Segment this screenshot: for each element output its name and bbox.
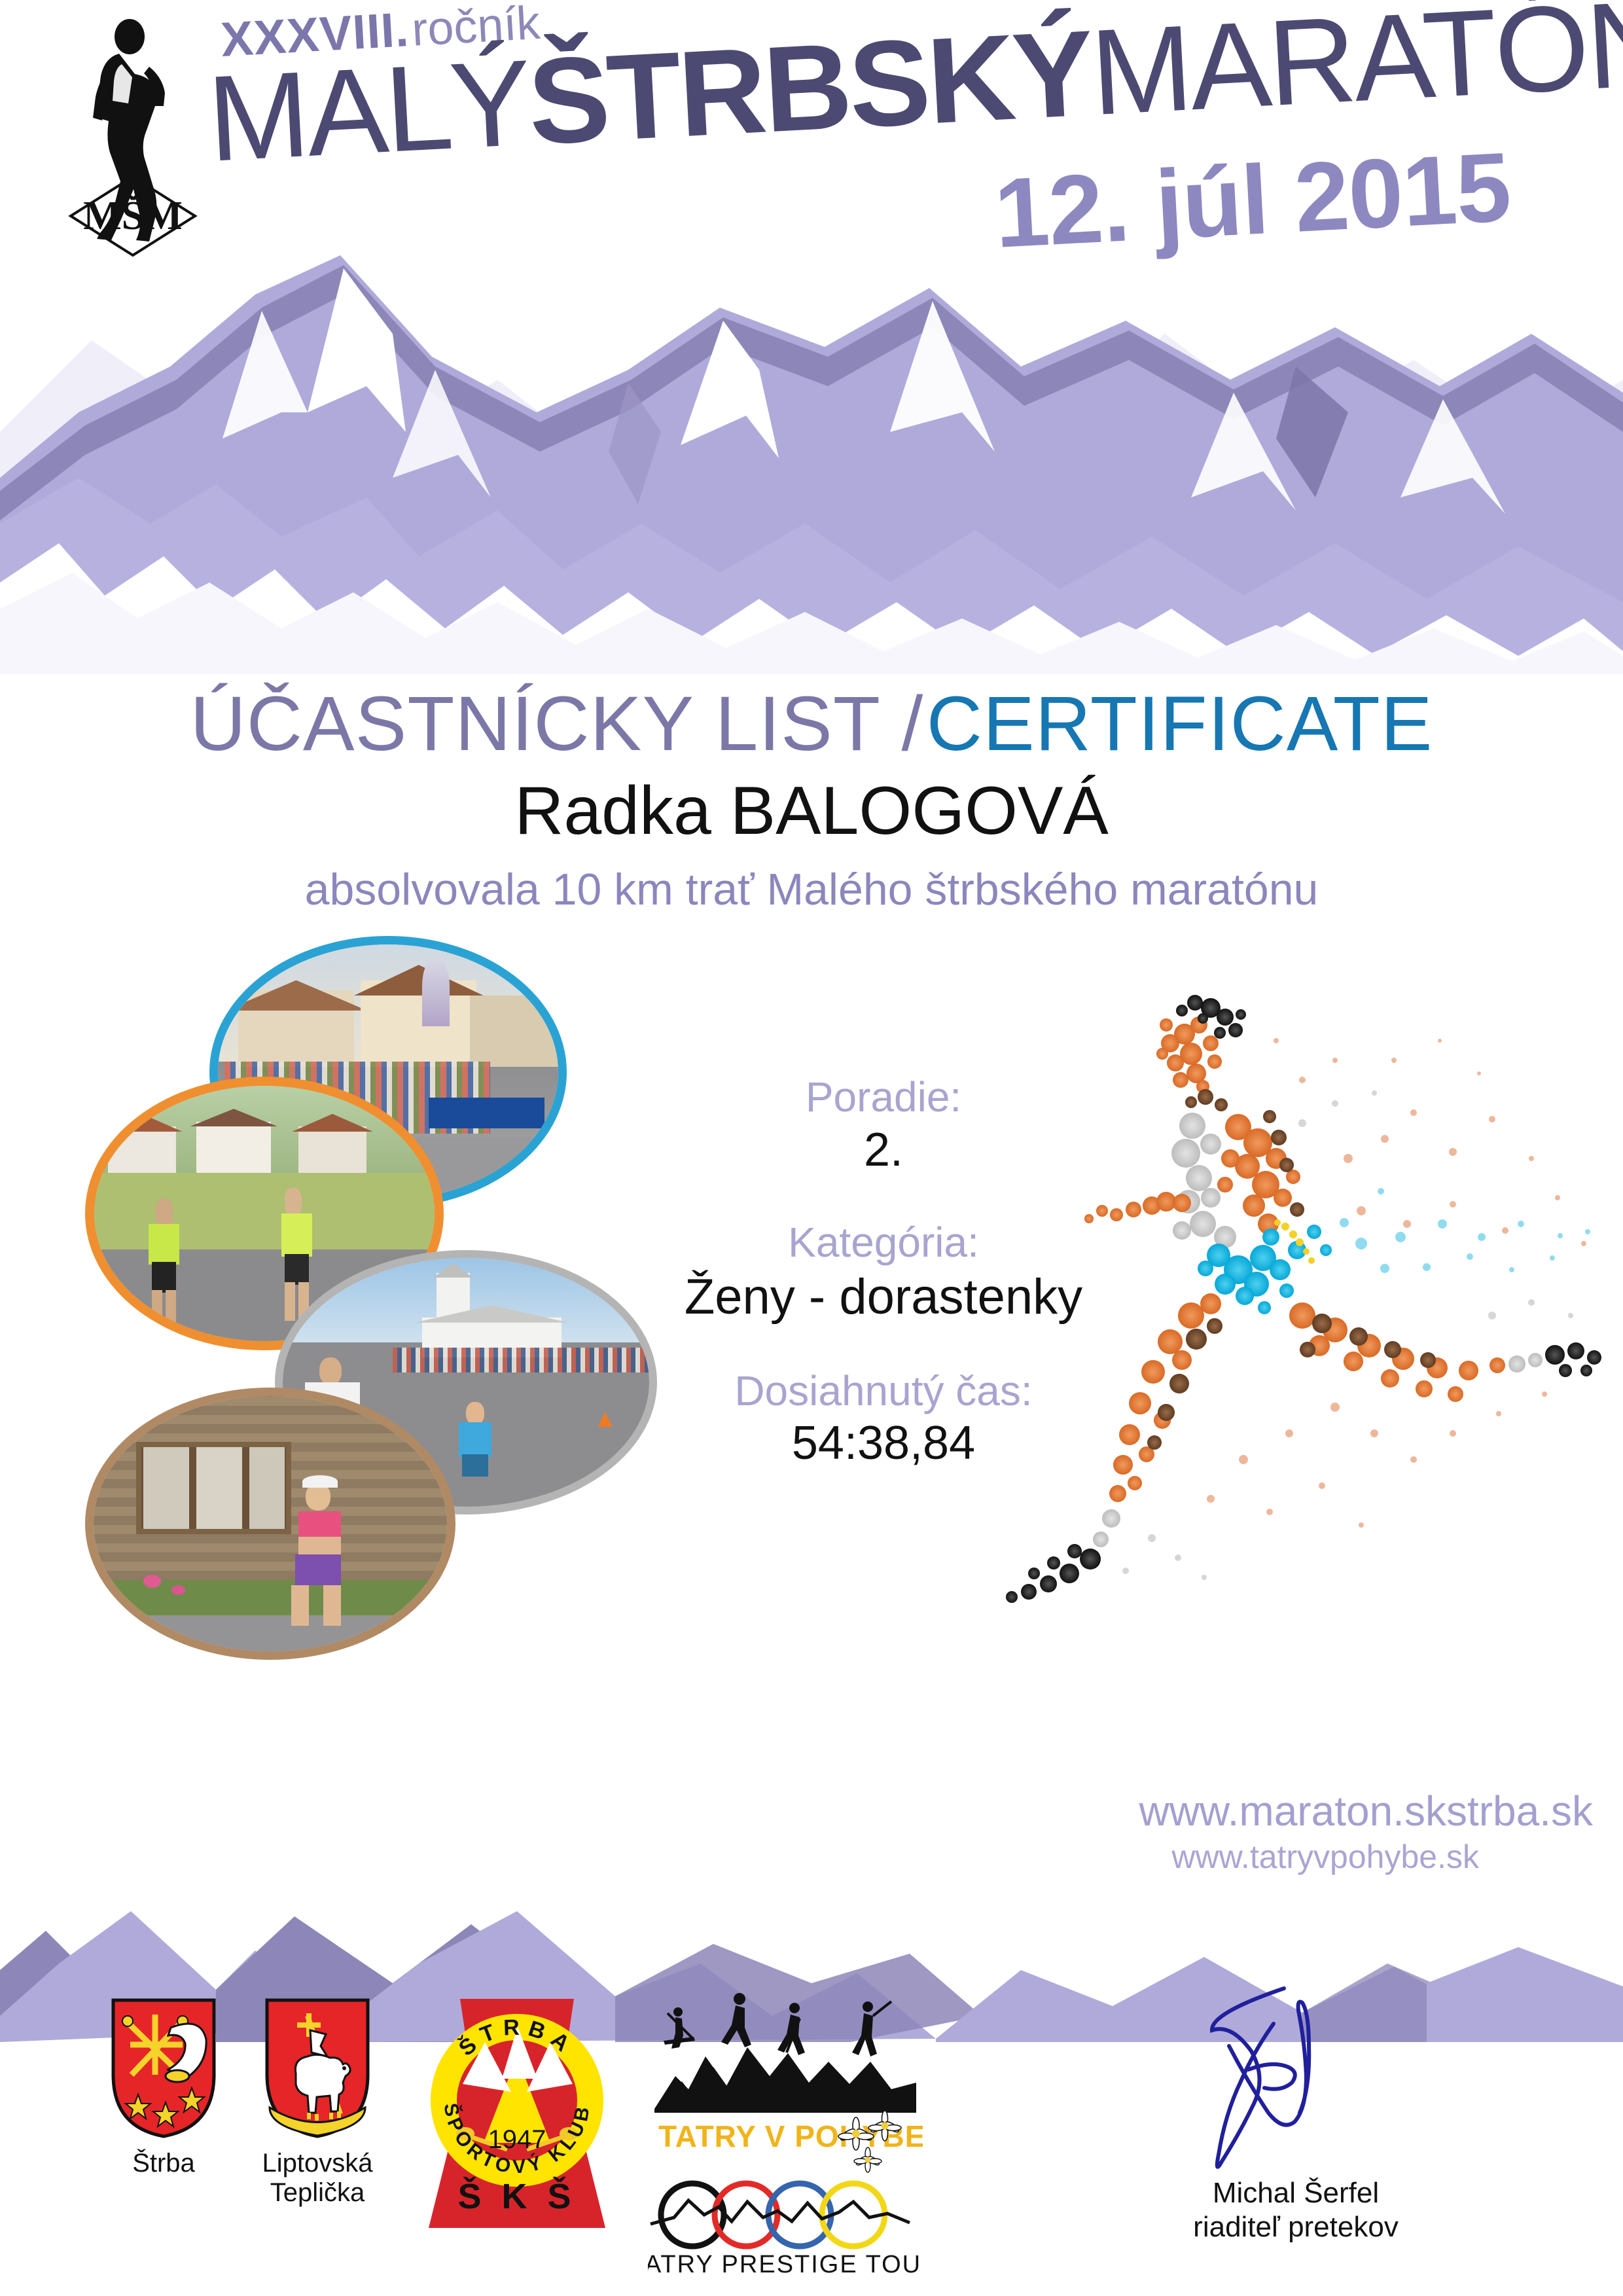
dot-runner-illustration [995,962,1610,1695]
signature-block: Michal Šerfel riaditeľ pretekov [1113,1983,1479,2244]
photo-collage [85,936,648,1820]
certificate-heading-sk: ÚČASTNÍCKY LIST / [190,681,924,767]
certificate-heading-en: CERTIFICATE [927,681,1433,767]
mountain-band-top [0,216,1623,674]
signature-icon [1113,1983,1479,2173]
website-links: www.maraton.skstrba.sk www.tatryvpohybe.… [0,1787,1623,1876]
certificate-page: MŠM XXXVIII. ročník MALÝŠTRBSKÝMARATÓN 1… [0,0,1623,2296]
link-tatryvpohybe[interactable]: www.tatryvpohybe.sk [0,1838,1610,1876]
title-part-strbsky: ŠTRBSKÝ [525,5,1094,170]
liptovska-teplicka-label: Liptovská Teplička [236,2149,399,2208]
strba-logo-block: Štrba [92,1996,236,2178]
strba-coat-of-arms-icon [108,1996,219,2140]
sks-year-label: 1947 [488,2125,546,2154]
title-part-maly: MALÝ [205,35,533,187]
tatry-prestige-tour-label: TATRY PRESTIGE TOUR [648,2251,923,2278]
strba-label: Štrba [92,2149,236,2178]
certificate-heading: ÚČASTNÍCKY LIST / CERTIFICATE [0,679,1623,768]
female-runner-photo [85,1388,455,1660]
tatry-v-pohybe-icon: TATRY V POHYBE [648,1984,923,2286]
signature-role: riaditeľ pretekov [1113,2210,1479,2244]
sks-abbrev-label: Š K Š [457,2176,576,2216]
liptovska-teplicka-coat-of-arms-icon [262,1996,373,2140]
certificate-subtitle: absolvovala 10 km trať Malého štrbského … [0,864,1623,915]
tatry-logos-block: TATRY V POHYBE [641,1984,929,2289]
sks-logo-block: ŠTRBA ŠPORTOVÝ KLUB 1947 Š K Š [419,1986,615,2251]
participant-name: Radka BALOGOVÁ [0,772,1623,850]
msm-logo-text: MŠM [83,194,183,238]
link-maraton-skstrba[interactable]: www.maraton.skstrba.sk [0,1787,1610,1835]
msm-runner-logo: MŠM [51,13,221,262]
liptovska-teplicka-logo-block: Liptovská Teplička [236,1996,399,2208]
signature-name: Michal Šerfel [1113,2176,1479,2210]
title-part-maraton: MARATÓN [1088,0,1623,141]
sks-sport-club-logo-icon: ŠTRBA ŠPORTOVÝ KLUB 1947 Š K Š [422,1986,612,2248]
